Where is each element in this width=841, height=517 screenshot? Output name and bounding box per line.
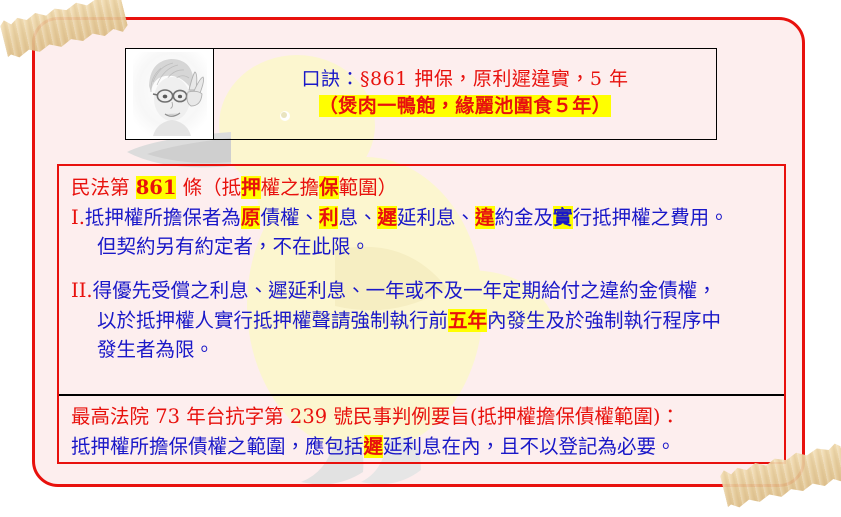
paragraph-2-line-1-runs: 得優先受償之利息、遲延利息、一年或不及一年定期給付之違約金債權，	[93, 279, 717, 302]
paragraph-2-line-2: 以於抵押權人實行抵押權聲請強制執行前五年內發生及於強制執行程序中	[71, 306, 774, 336]
mnemonic-line-1: 口訣：§861 押保，原利遲違實，5 年	[302, 68, 629, 92]
text-run-6: 範圍）	[339, 176, 398, 199]
text-run-0: 最高法院 73 年台抗字第 239 號民事判例要旨(抵押權擔保債權範圍)：	[71, 405, 680, 428]
text-run-5: 保	[319, 176, 339, 199]
note-card: 口訣：§861 押保，原利遲違實，5 年 （煲肉一鴨飽，緣麗池圍食５年） 民法第…	[32, 17, 805, 487]
text-run-2: 內發生及於強制執行程序中	[487, 309, 721, 332]
text-run-5: 遲	[377, 206, 397, 229]
text-run-2: 條（抵	[176, 176, 241, 199]
paragraph-2-line-1: II.得優先受償之利息、遲延利息、一年或不及一年定期給付之違約金債權，	[71, 276, 774, 306]
text-run-9: 實	[553, 206, 573, 229]
text-run-0: 發生者為限。	[97, 338, 214, 361]
text-run-2: 債權、	[260, 206, 319, 229]
text-run-1: 五年	[448, 309, 487, 332]
paragraph-1-line-1: I.抵押權所擔保者為原債權、利息、遲延利息、違約金及實行抵押權之費用。	[71, 203, 774, 233]
paragraph-1-line-2-runs: 但契約另有約定者，不在此限。	[97, 235, 370, 258]
text-run-0: 得優先受償之利息、遲延利息、一年或不及一年定期給付之違約金債權，	[93, 279, 717, 302]
text-run-0: 抵押權所擔保債權之範圍，應包括	[71, 435, 364, 458]
text-run-2: 延利息在內，且不以登記為必要。	[383, 435, 676, 458]
mnemonic-label: 口訣：	[302, 68, 361, 90]
mnemonic-header-box: 口訣：§861 押保，原利遲違實，5 年 （煲肉一鴨飽，緣麗池圍食５年）	[125, 48, 717, 140]
text-run-8: 約金及	[495, 206, 554, 229]
portrait-sketch-icon	[133, 52, 207, 136]
mnemonic-body: §861 押保，原利遲違實，5 年	[360, 68, 628, 90]
text-run-1: 原	[241, 206, 261, 229]
text-run-4: 權之擔	[261, 176, 320, 199]
statute-box: 民法第 861 條（抵押權之擔保範圍） I.抵押權所擔保者為原債權、利息、遲延利…	[57, 164, 786, 464]
text-run-3: 押	[241, 176, 261, 199]
text-run-1: 遲	[364, 435, 384, 458]
paragraph-2-line-3: 發生者為限。	[71, 335, 774, 365]
paragraph-1-marker: I.	[71, 206, 85, 229]
text-run-0: 以於抵押權人實行抵押權聲請強制執行前	[97, 309, 448, 332]
text-run-6: 延利息、	[397, 206, 475, 229]
paragraph-1-line-2: 但契約另有約定者，不在此限。	[71, 232, 774, 262]
paragraph-2-line-2-runs: 以於抵押權人實行抵押權聲請強制執行前五年內發生及於強制執行程序中	[97, 309, 721, 332]
text-run-4: 息、	[338, 206, 377, 229]
precedent-line-1: 最高法院 73 年台抗字第 239 號民事判例要旨(抵押權擔保債權範圍)：	[71, 402, 774, 432]
text-run-1: 861	[136, 176, 177, 199]
text-run-0: 但契約另有約定者，不在此限。	[97, 235, 370, 258]
statute-body: 民法第 861 條（抵押權之擔保範圍） I.抵押權所擔保者為原債權、利息、遲延利…	[59, 166, 784, 394]
paragraph-2-marker: II.	[71, 279, 93, 302]
precedent-line-1-runs: 最高法院 73 年台抗字第 239 號民事判例要旨(抵押權擔保債權範圍)：	[71, 405, 680, 428]
text-run-10: 行抵押權之費用。	[573, 206, 729, 229]
text-run-0: 抵押權所擔保者為	[85, 206, 241, 229]
statute-title-runs: 民法第 861 條（抵押權之擔保範圍）	[71, 176, 397, 199]
mnemonic-line-2: （煲肉一鴨飽，緣麗池圍食５年）	[319, 95, 612, 119]
statute-title: 民法第 861 條（抵押權之擔保範圍）	[71, 173, 774, 203]
mnemonic-highlight-phrase: （煲肉一鴨飽，緣麗池圍食５年）	[319, 95, 612, 117]
precedent-line-2-runs: 抵押權所擔保債權之範圍，應包括遲延利息在內，且不以登記為必要。	[71, 435, 676, 458]
text-run-3: 利	[319, 206, 339, 229]
portrait-photo-cell	[126, 49, 214, 139]
text-run-7: 違	[475, 206, 495, 229]
precedent-line-2: 抵押權所擔保債權之範圍，應包括遲延利息在內，且不以登記為必要。	[71, 432, 774, 462]
paragraph-2-line-3-runs: 發生者為限。	[97, 338, 214, 361]
precedent-section: 最高法院 73 年台抗字第 239 號民事判例要旨(抵押權擔保債權範圍)： 抵押…	[59, 396, 784, 465]
mnemonic-text-cell: 口訣：§861 押保，原利遲違實，5 年 （煲肉一鴨飽，緣麗池圍食５年）	[214, 49, 716, 139]
text-run-0: 民法第	[71, 176, 136, 199]
paragraph-1-line-1-runs: 抵押權所擔保者為原債權、利息、遲延利息、違約金及實行抵押權之費用。	[85, 206, 729, 229]
paragraph-spacer	[71, 262, 774, 276]
